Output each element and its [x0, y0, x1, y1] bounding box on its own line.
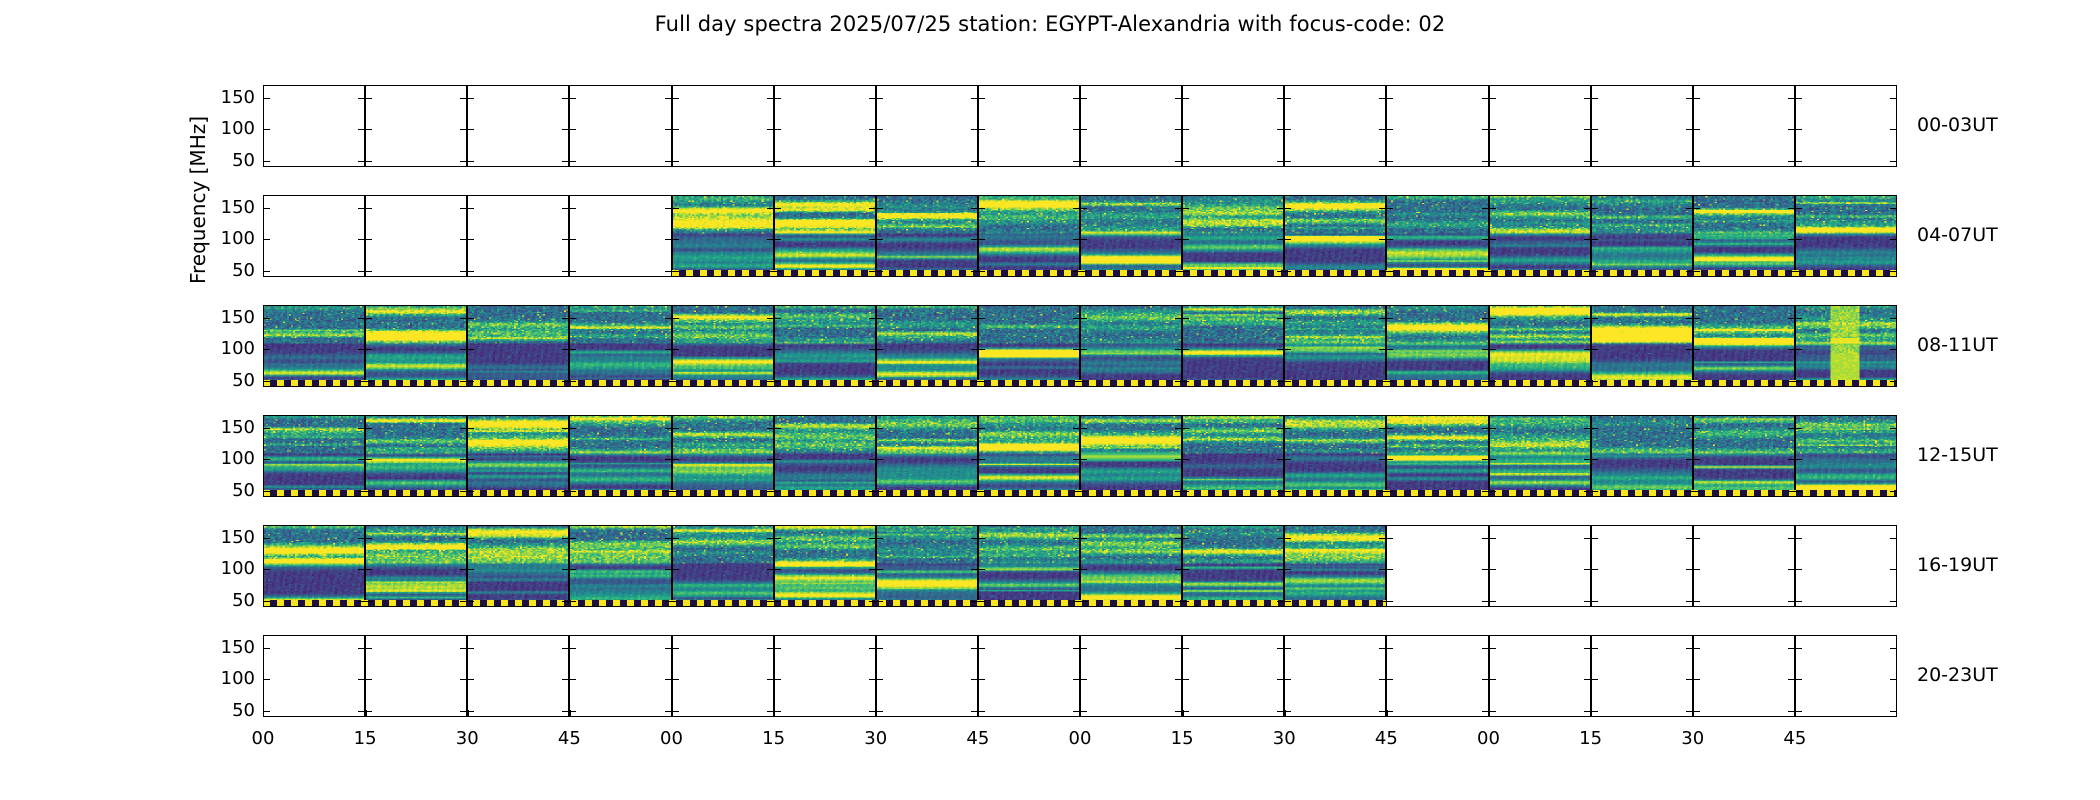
y-tick-mark: [1693, 349, 1700, 350]
spectrogram-panel[interactable]: [467, 305, 569, 387]
y-tick-mark: [971, 679, 978, 680]
spectrogram-panel[interactable]: [876, 85, 978, 167]
spectrogram-panel[interactable]: [569, 195, 671, 277]
y-tick-mark: [263, 459, 270, 460]
y-tick-mark: [971, 98, 978, 99]
spectrogram-panel[interactable]: [876, 525, 978, 607]
y-tick-mark: [1482, 648, 1489, 649]
y-tick-mark: [1788, 648, 1795, 649]
y-tick-mark: [569, 601, 576, 602]
spectrogram-panel[interactable]: [1489, 85, 1591, 167]
y-tick-mark: [1686, 491, 1693, 492]
y-tick-mark: [263, 239, 270, 240]
spectrogram-panel[interactable]: [1591, 525, 1693, 607]
spectrogram-panel[interactable]: [1489, 195, 1591, 277]
y-tick-mark: [1175, 381, 1182, 382]
y-tick-mark: [562, 459, 569, 460]
y-tick-mark: [1795, 271, 1802, 272]
spectrogram-panel[interactable]: [1182, 525, 1284, 607]
y-tick-mark: [774, 428, 781, 429]
y-tick-mark: [460, 679, 467, 680]
spectrogram-image: [979, 305, 1079, 387]
y-tick-mark: [672, 208, 679, 209]
y-tick-mark: [767, 601, 774, 602]
x-tick-label: 00: [1459, 730, 1519, 748]
spectrogram-panel[interactable]: [1489, 525, 1591, 607]
spectrogram-panel[interactable]: [774, 195, 876, 277]
spectrogram-image: [1694, 305, 1794, 387]
y-tick-mark: [1175, 208, 1182, 209]
y-tick-mark: [1584, 459, 1591, 460]
y-tick-mark: [562, 381, 569, 382]
y-tick-label: 100: [195, 340, 255, 358]
spectrogram-panel[interactable]: [1386, 305, 1488, 387]
y-tick-mark: [358, 491, 365, 492]
y-tick-label: 100: [195, 450, 255, 468]
y-tick-mark: [672, 381, 679, 382]
y-tick-mark: [562, 208, 569, 209]
y-tick-mark: [1686, 208, 1693, 209]
spectrogram-panel[interactable]: [1693, 635, 1795, 717]
y-tick-mark: [774, 648, 781, 649]
y-tick-mark: [1890, 491, 1897, 492]
spectrogram-panel[interactable]: [1489, 305, 1591, 387]
y-tick-mark: [665, 601, 672, 602]
x-tick-mark: [1795, 710, 1796, 717]
y-tick-mark: [1386, 318, 1393, 319]
spectrogram-panel[interactable]: [1795, 85, 1897, 167]
spectrogram-panel[interactable]: [1080, 85, 1182, 167]
y-tick-mark: [1584, 491, 1591, 492]
y-tick-mark: [978, 491, 985, 492]
spectrogram-panel[interactable]: [569, 635, 671, 717]
y-tick-mark: [876, 129, 883, 130]
y-tick-mark: [774, 491, 781, 492]
y-tick-mark: [467, 239, 474, 240]
spectrogram-panel[interactable]: [774, 415, 876, 497]
spectrogram-image: [1796, 415, 1896, 497]
spectrogram-panel[interactable]: [1182, 85, 1284, 167]
y-tick-mark: [1073, 491, 1080, 492]
y-tick-mark: [1693, 491, 1700, 492]
spectrogram-image: [264, 525, 364, 607]
y-tick-mark: [1080, 129, 1087, 130]
spectrogram-image: [673, 305, 773, 387]
spectrogram-panel[interactable]: [365, 195, 467, 277]
x-tick-mark: [263, 710, 264, 717]
y-tick-mark: [1379, 161, 1386, 162]
y-tick-mark: [1584, 271, 1591, 272]
y-tick-mark: [1890, 208, 1897, 209]
spectrogram-image: [877, 525, 977, 607]
spectrogram-panel[interactable]: [1591, 195, 1693, 277]
y-tick-mark: [467, 601, 474, 602]
y-tick-mark: [562, 428, 569, 429]
y-tick-mark: [1284, 349, 1291, 350]
spectrogram-panel[interactable]: [467, 195, 569, 277]
y-tick-mark: [1686, 129, 1693, 130]
spectrogram-panel[interactable]: [1284, 305, 1386, 387]
spectrogram-panel[interactable]: [774, 525, 876, 607]
y-tick-mark: [1482, 271, 1489, 272]
y-tick-mark: [1284, 271, 1291, 272]
y-tick-mark: [358, 648, 365, 649]
spectrogram-panel[interactable]: [672, 415, 774, 497]
spectrogram-panel[interactable]: [1693, 85, 1795, 167]
spectrogram-panel[interactable]: [1284, 195, 1386, 277]
y-tick-mark: [1788, 208, 1795, 209]
spectrogram-panel[interactable]: [1182, 195, 1284, 277]
y-tick-mark: [1379, 569, 1386, 570]
y-tick-mark: [876, 239, 883, 240]
x-tick-label: 00: [1050, 730, 1110, 748]
y-tick-mark: [978, 601, 985, 602]
spectrogram-image: [979, 415, 1079, 497]
y-tick-mark: [1591, 239, 1598, 240]
y-tick-mark: [1379, 271, 1386, 272]
y-tick-mark: [1591, 208, 1598, 209]
spectrogram-panel[interactable]: [1080, 415, 1182, 497]
y-tick-mark: [460, 318, 467, 319]
spectrogram-panel[interactable]: [263, 525, 365, 607]
y-tick-mark: [869, 239, 876, 240]
spectrogram-image: [1081, 525, 1181, 607]
y-tick-mark: [876, 161, 883, 162]
spectrogram-panel[interactable]: [1795, 195, 1897, 277]
y-tick-mark: [1591, 679, 1598, 680]
y-tick-mark: [569, 538, 576, 539]
spectrogram-panel[interactable]: [978, 635, 1080, 717]
x-tick-label: 00: [233, 730, 293, 748]
y-tick-mark: [665, 428, 672, 429]
y-tick-mark: [774, 239, 781, 240]
spectrogram-panel[interactable]: [1795, 415, 1897, 497]
spectrogram-image: [1081, 305, 1181, 387]
y-tick-mark: [1386, 538, 1393, 539]
y-tick-mark: [1080, 208, 1087, 209]
spectrogram-panel[interactable]: [1795, 305, 1897, 387]
y-tick-mark: [767, 569, 774, 570]
y-tick-mark: [767, 318, 774, 319]
y-tick-mark: [467, 679, 474, 680]
spectrogram-panel[interactable]: [774, 305, 876, 387]
spectrogram-panel[interactable]: [467, 635, 569, 717]
y-tick-mark: [876, 679, 883, 680]
spectrogram-panel[interactable]: [569, 305, 671, 387]
spectrogram-panel[interactable]: [978, 415, 1080, 497]
y-tick-mark: [1591, 381, 1598, 382]
y-tick-mark: [1073, 381, 1080, 382]
y-tick-mark: [1182, 538, 1189, 539]
y-tick-label: 150: [195, 309, 255, 327]
y-tick-label: 50: [195, 592, 255, 610]
y-tick-mark: [971, 129, 978, 130]
y-tick-mark: [1489, 129, 1496, 130]
spectrogram-panel[interactable]: [467, 415, 569, 497]
y-tick-mark: [1890, 349, 1897, 350]
y-tick-mark: [971, 271, 978, 272]
y-tick-mark: [1693, 569, 1700, 570]
y-tick-mark: [1080, 459, 1087, 460]
y-tick-mark: [767, 491, 774, 492]
x-tick-label: 45: [1356, 730, 1416, 748]
spectrogram-panel[interactable]: [1284, 525, 1386, 607]
x-tick-label: 15: [335, 730, 395, 748]
spectrogram-panel[interactable]: [1795, 525, 1897, 607]
spectrogram-panel[interactable]: [1386, 85, 1488, 167]
y-tick-mark: [1175, 129, 1182, 130]
spectrogram-panel[interactable]: [1386, 635, 1488, 717]
spectrogram-panel[interactable]: [774, 85, 876, 167]
y-tick-mark: [1073, 569, 1080, 570]
spectrogram-panel[interactable]: [1284, 635, 1386, 717]
spectrogram-image: [877, 415, 977, 497]
spectrogram-panel[interactable]: [978, 195, 1080, 277]
spectrogram-panel[interactable]: [365, 415, 467, 497]
spectrogram-panel[interactable]: [1284, 415, 1386, 497]
y-tick-mark: [1379, 679, 1386, 680]
spectrogram-image: [1796, 195, 1896, 277]
y-tick-mark: [971, 459, 978, 460]
y-tick-mark: [1073, 679, 1080, 680]
row-time-label: 20-23UT: [1917, 664, 1998, 686]
spectrogram-panel[interactable]: [1182, 635, 1284, 717]
y-tick-mark: [1386, 601, 1393, 602]
y-tick-mark: [358, 349, 365, 350]
spectrogram-panel[interactable]: [1182, 305, 1284, 387]
y-tick-mark: [1175, 428, 1182, 429]
spectrogram-panel[interactable]: [1386, 195, 1488, 277]
y-tick-mark: [876, 208, 883, 209]
y-tick-mark: [767, 129, 774, 130]
y-tick-mark: [1379, 208, 1386, 209]
y-tick-mark: [774, 98, 781, 99]
y-tick-mark: [1591, 349, 1598, 350]
y-tick-mark: [1073, 538, 1080, 539]
y-tick-label: 100: [195, 560, 255, 578]
y-tick-mark: [467, 318, 474, 319]
y-tick-mark: [665, 679, 672, 680]
y-tick-mark: [1693, 428, 1700, 429]
spectrogram-panel[interactable]: [263, 305, 365, 387]
y-tick-mark: [1890, 271, 1897, 272]
spectrogram-panel[interactable]: [365, 635, 467, 717]
y-tick-mark: [774, 679, 781, 680]
y-tick-mark: [460, 271, 467, 272]
spectrogram-panel[interactable]: [1080, 195, 1182, 277]
spectrogram-panel[interactable]: [1489, 635, 1591, 717]
y-tick-mark: [665, 491, 672, 492]
spectrogram-row: [263, 85, 1897, 167]
spectrogram-panel[interactable]: [467, 525, 569, 607]
spectrogram-image: [775, 195, 875, 277]
y-tick-mark: [460, 459, 467, 460]
y-tick-mark: [263, 349, 270, 350]
spectrogram-panel[interactable]: [1693, 195, 1795, 277]
spectrogram-panel[interactable]: [1693, 415, 1795, 497]
spectrogram-image: [877, 305, 977, 387]
y-tick-mark: [971, 318, 978, 319]
y-tick-mark: [365, 381, 372, 382]
x-tick-label: 15: [1561, 730, 1621, 748]
y-tick-mark: [263, 381, 270, 382]
spectrogram-panel[interactable]: [774, 635, 876, 717]
y-tick-mark: [1584, 711, 1591, 712]
y-tick-mark: [767, 349, 774, 350]
y-tick-mark: [1686, 569, 1693, 570]
y-tick-mark: [460, 538, 467, 539]
y-tick-mark: [978, 679, 985, 680]
spectrogram-panel[interactable]: [1693, 305, 1795, 387]
spectrogram-panel[interactable]: [876, 195, 978, 277]
y-tick-mark: [365, 349, 372, 350]
spectrogram-panel[interactable]: [1489, 415, 1591, 497]
spectrogram-panel[interactable]: [467, 85, 569, 167]
y-tick-mark: [569, 161, 576, 162]
y-tick-mark: [876, 98, 883, 99]
y-tick-mark: [1284, 381, 1291, 382]
spectrogram-row: [263, 195, 1897, 277]
y-tick-mark: [1182, 381, 1189, 382]
y-tick-mark: [1686, 648, 1693, 649]
y-tick-mark: [569, 349, 576, 350]
y-tick-mark: [1795, 349, 1802, 350]
spectrogram-panel[interactable]: [569, 415, 671, 497]
spectrogram-image: [366, 525, 466, 607]
y-tick-mark: [665, 711, 672, 712]
spectrogram-panel[interactable]: [1386, 525, 1488, 607]
y-tick-mark: [1182, 239, 1189, 240]
y-tick-mark: [1379, 381, 1386, 382]
spectrogram-image: [1387, 305, 1487, 387]
spectrogram-panel[interactable]: [1386, 415, 1488, 497]
y-tick-mark: [1386, 271, 1393, 272]
spectrogram-panel[interactable]: [978, 305, 1080, 387]
y-tick-mark: [1686, 428, 1693, 429]
spectrogram-panel[interactable]: [365, 85, 467, 167]
y-tick-mark: [1482, 491, 1489, 492]
spectrogram-panel[interactable]: [876, 415, 978, 497]
y-tick-mark: [876, 459, 883, 460]
y-tick-mark: [774, 129, 781, 130]
y-tick-label: 150: [195, 419, 255, 437]
y-tick-mark: [971, 538, 978, 539]
spectrogram-panel[interactable]: [1591, 415, 1693, 497]
spectrogram-image: [1796, 305, 1896, 387]
y-tick-mark: [365, 208, 372, 209]
y-tick-mark: [562, 161, 569, 162]
y-tick-mark: [774, 271, 781, 272]
y-tick-mark: [1693, 538, 1700, 539]
spectrogram-panel[interactable]: [978, 525, 1080, 607]
spectrogram-panel[interactable]: [569, 85, 671, 167]
y-tick-mark: [1584, 679, 1591, 680]
y-tick-mark: [1482, 318, 1489, 319]
y-tick-mark: [1788, 349, 1795, 350]
y-tick-mark: [978, 569, 985, 570]
spectrogram-panel[interactable]: [263, 85, 365, 167]
y-tick-mark: [665, 208, 672, 209]
spectrogram-panel[interactable]: [1591, 85, 1693, 167]
spectrogram-panel[interactable]: [1182, 415, 1284, 497]
spectrogram-panel[interactable]: [1080, 635, 1182, 717]
y-tick-mark: [1686, 459, 1693, 460]
y-tick-mark: [358, 239, 365, 240]
y-tick-mark: [1489, 318, 1496, 319]
spectrogram-panel[interactable]: [672, 195, 774, 277]
y-tick-mark: [971, 601, 978, 602]
spectrogram-panel[interactable]: [1080, 305, 1182, 387]
spectrogram-panel[interactable]: [876, 305, 978, 387]
y-tick-mark: [1277, 349, 1284, 350]
spectrogram-panel[interactable]: [1080, 525, 1182, 607]
spectrogram-panel[interactable]: [672, 85, 774, 167]
y-tick-mark: [1489, 349, 1496, 350]
y-tick-mark: [1175, 349, 1182, 350]
y-tick-mark: [1073, 318, 1080, 319]
y-tick-mark: [1795, 161, 1802, 162]
y-tick-mark: [365, 318, 372, 319]
y-tick-mark: [1795, 98, 1802, 99]
spectrogram-image: [570, 415, 670, 497]
y-tick-mark: [358, 271, 365, 272]
y-tick-mark: [1386, 129, 1393, 130]
y-tick-mark: [1693, 129, 1700, 130]
spectrogram-panel[interactable]: [569, 525, 671, 607]
spectrogram-panel[interactable]: [365, 525, 467, 607]
spectrogram-panel[interactable]: [1795, 635, 1897, 717]
spectrogram-panel[interactable]: [978, 85, 1080, 167]
y-tick-mark: [263, 569, 270, 570]
y-tick-mark: [1795, 601, 1802, 602]
spectrogram-image: [1694, 415, 1794, 497]
y-tick-mark: [1890, 459, 1897, 460]
spectrogram-panel[interactable]: [672, 305, 774, 387]
spectrogram-image: [468, 305, 568, 387]
spectrogram-panel[interactable]: [672, 635, 774, 717]
y-tick-mark: [467, 381, 474, 382]
y-tick-mark: [1182, 491, 1189, 492]
y-tick-mark: [665, 161, 672, 162]
y-tick-mark: [562, 349, 569, 350]
y-tick-mark: [562, 129, 569, 130]
spectrogram-panel[interactable]: [1693, 525, 1795, 607]
y-tick-mark: [1591, 459, 1598, 460]
y-tick-mark: [1386, 161, 1393, 162]
spectrogram-panel[interactable]: [263, 415, 365, 497]
y-tick-mark: [358, 208, 365, 209]
spectrogram-panel[interactable]: [263, 195, 365, 277]
y-tick-mark: [1795, 239, 1802, 240]
y-tick-mark: [1175, 271, 1182, 272]
y-tick-mark: [569, 318, 576, 319]
y-tick-mark: [876, 601, 883, 602]
spectrogram-panel[interactable]: [1591, 305, 1693, 387]
y-tick-mark: [1584, 161, 1591, 162]
x-tick-mark: [1284, 710, 1285, 717]
spectrogram-panel[interactable]: [1591, 635, 1693, 717]
y-tick-mark: [467, 98, 474, 99]
y-tick-mark: [1277, 679, 1284, 680]
spectrogram-panel[interactable]: [876, 635, 978, 717]
x-tick-mark: [1489, 710, 1490, 717]
spectrogram-panel[interactable]: [672, 525, 774, 607]
spectrogram-panel[interactable]: [263, 635, 365, 717]
x-tick-mark: [467, 710, 468, 717]
y-tick-mark: [767, 648, 774, 649]
spectrogram-panel[interactable]: [1284, 85, 1386, 167]
spectrogram-panel[interactable]: [365, 305, 467, 387]
